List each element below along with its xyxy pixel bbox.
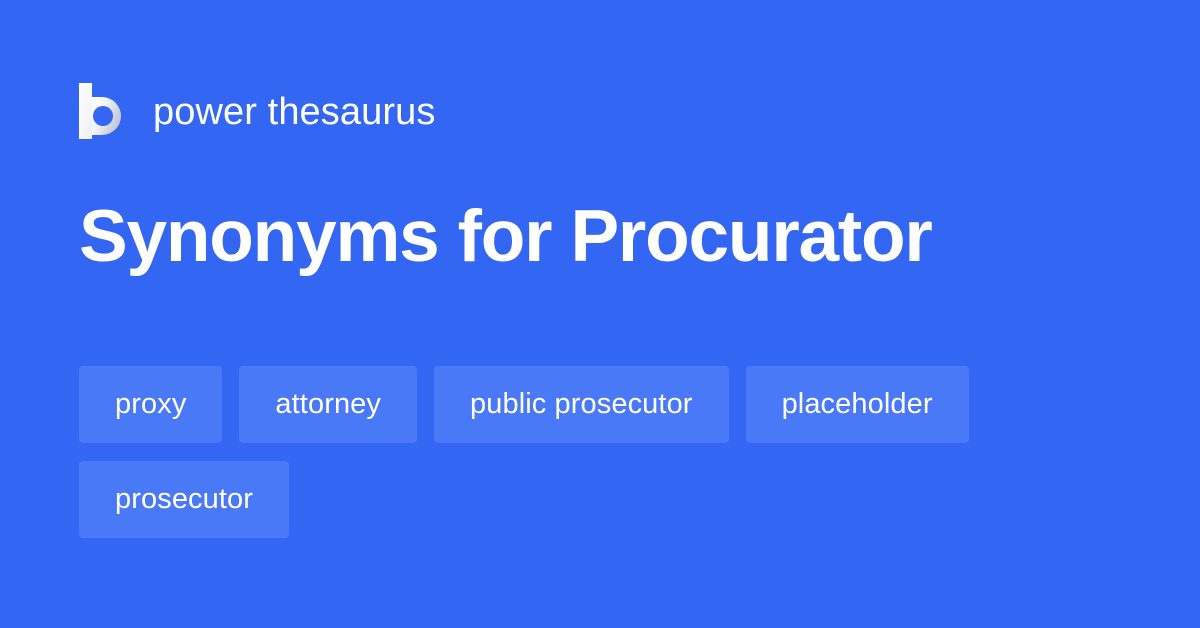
- synonym-chip[interactable]: placeholder: [746, 366, 969, 443]
- synonym-chip[interactable]: proxy: [79, 366, 222, 443]
- synonym-chip[interactable]: prosecutor: [79, 461, 289, 538]
- power-thesaurus-b-logo-icon: [79, 83, 128, 139]
- synonym-chip[interactable]: attorney: [239, 366, 417, 443]
- share-card: power thesaurus Synonyms for Procurator …: [0, 0, 1200, 628]
- synonym-chip[interactable]: public prosecutor: [434, 366, 729, 443]
- page-title: Synonyms for Procurator: [79, 196, 1129, 278]
- brand-name: power thesaurus: [153, 93, 435, 131]
- brand-header[interactable]: power thesaurus: [79, 82, 435, 140]
- synonym-chip-list: proxy attorney public prosecutor placeho…: [79, 366, 1124, 538]
